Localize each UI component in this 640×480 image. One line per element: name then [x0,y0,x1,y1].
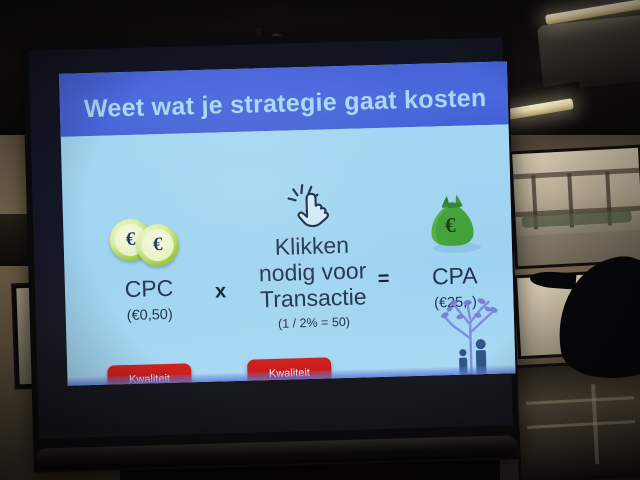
clicks-value: (1 / 2% = 50) [234,314,394,332]
clicks-label-line-3: Transactie [233,283,394,313]
presentation-slide: Weet wat je strategie gaat kosten € € CP… [59,61,516,385]
equals-operator: = [378,268,390,291]
cpc-label: CPC [85,275,214,304]
ceiling-duct-right [537,14,640,91]
money-bag-icon: € [419,191,487,255]
euro-coins-icon: € € [109,217,186,265]
svg-text:€: € [445,213,457,237]
building-exterior-photo-top [509,145,640,270]
photo-of-presentation-room: Weet wat je strategie gaat kosten € € CP… [0,0,640,480]
formula-term-cpc: € € CPC (€0,50) [83,217,214,325]
multiply-operator: x [215,280,227,303]
tree-with-people-illustration [411,277,510,376]
click-hand-icon [282,181,339,231]
screen-surface: Weet wat je strategie gaat kosten € € CP… [28,37,513,438]
slide-body: € € CPC (€0,50) x [61,124,516,385]
projection-screen: Weet wat je strategie gaat kosten € € CP… [22,29,520,472]
formula-term-clicks: Klikken nodig voor Transactie (1 / 2% = … [230,180,394,333]
cpc-value: (€0,50) [86,305,214,325]
kwaliteit-website-line-2: Website [257,380,323,386]
